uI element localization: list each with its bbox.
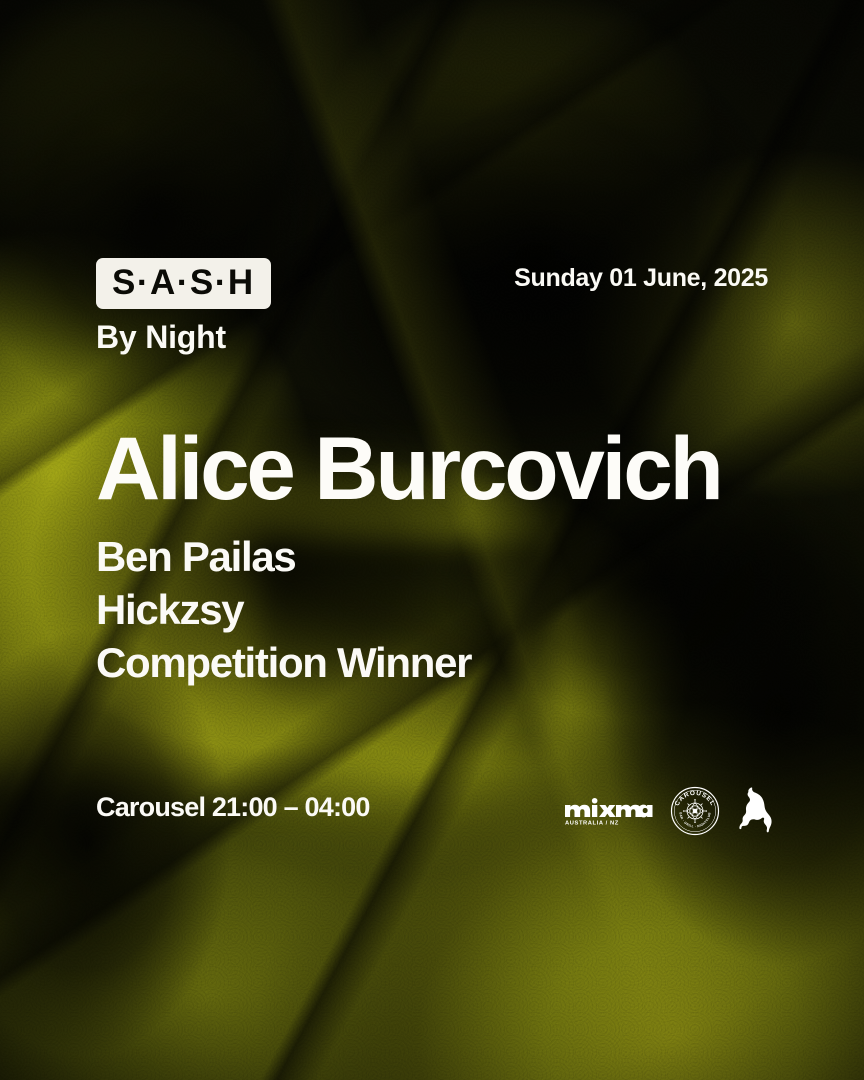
venue-and-time: Carousel 21:00 – 04:00 — [96, 792, 370, 823]
support-act-list: Ben Pailas Hickzsy Competition Winner — [96, 531, 804, 690]
event-date: Sunday 01 June, 2025 — [514, 264, 768, 293]
brand-subtitle: By Night — [96, 320, 768, 355]
poster-footer: Carousel 21:00 – 04:00 — [96, 786, 776, 834]
poster-content: S·A·S·H By Night Sunday 01 June, 2025 Al… — [0, 0, 864, 1080]
sash-logo-label: S·A·S·H — [112, 265, 255, 300]
poster-header: S·A·S·H By Night Sunday 01 June, 2025 — [96, 258, 768, 355]
sponsor-logo-row: AUSTRALIA / NZ CAROUSEL BAR · GRILL · NI… — [564, 786, 776, 836]
mixmag-logo: AUSTRALIA / NZ — [564, 797, 654, 826]
support-act-name: Ben Pailas — [96, 531, 804, 584]
support-act-name: Hickzsy — [96, 584, 804, 637]
rearing-horse-logo — [736, 787, 776, 835]
carousel-badge-logo: CAROUSEL BAR · GRILL · NIGHTCLUB — [670, 786, 720, 836]
headliner-name: Alice Burcovich — [96, 424, 804, 513]
mixmag-tagline: AUSTRALIA / NZ — [565, 820, 619, 826]
sash-logo: S·A·S·H — [96, 258, 271, 309]
event-poster: S·A·S·H By Night Sunday 01 June, 2025 Al… — [0, 0, 864, 1080]
support-act-name: Competition Winner — [96, 637, 804, 690]
lineup-block: Alice Burcovich Ben Pailas Hickzsy Compe… — [96, 424, 804, 690]
